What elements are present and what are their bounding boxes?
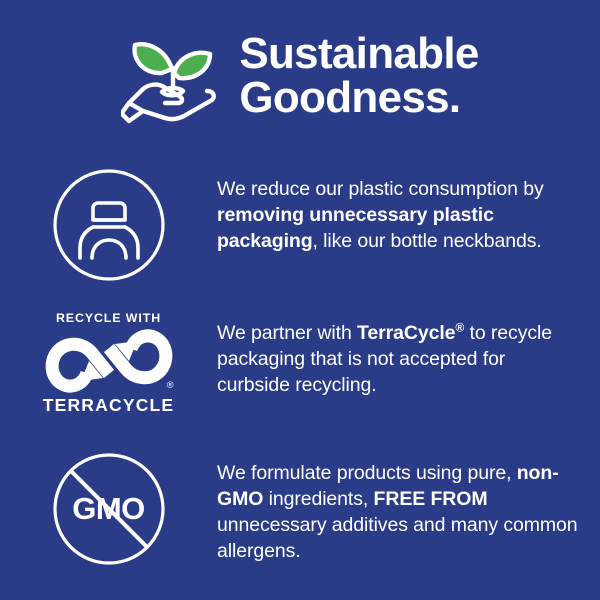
header: Sustainable Goodness. (0, 24, 600, 128)
text-segment: We formulate products using pure, (217, 462, 517, 484)
terracycle-bottom-text: TERRACYCLE (43, 397, 175, 415)
text-segment-brand: TerraCycle (357, 322, 455, 344)
benefit-row-gmo-icon-cell: GMO (0, 446, 217, 566)
benefit-row-plastic-text: We reduce our plastic consumption by rem… (217, 176, 582, 254)
terracycle-logo: RECYCLE WITH (41, 312, 177, 415)
registered-mark: ® (455, 321, 464, 335)
benefit-row-terracycle-icon-cell: RECYCLE WITH (0, 306, 217, 415)
text-segment: , like our bottle neckbands. (313, 230, 542, 252)
bottle-neckband-circle-icon (52, 168, 166, 282)
page-title: Sustainable Goodness. (239, 32, 478, 119)
text-segment: We reduce our plastic consumption by (217, 178, 544, 200)
benefit-row-gmo-text: We formulate products using pure, non-GM… (217, 460, 582, 565)
benefit-row-gmo: GMO We formulate products using pure, no… (0, 446, 600, 566)
no-gmo-circle-icon: GMO (52, 452, 166, 566)
benefit-row-terracycle-text: We partner with TerraCycle® to recycle p… (217, 320, 582, 398)
benefit-rows: We reduce our plastic consumption by rem… (0, 162, 600, 566)
benefit-row-gmo-text-cell: We formulate products using pure, non-GM… (217, 446, 600, 565)
terracycle-registered-mark: ® (167, 381, 174, 390)
benefit-row-terracycle-text-cell: We partner with TerraCycle® to recycle p… (217, 306, 600, 398)
sustainable-goodness-infographic: Sustainable Goodness. (0, 0, 600, 600)
gmo-label: GMO (52, 452, 166, 566)
benefit-row-plastic: We reduce our plastic consumption by rem… (0, 162, 600, 282)
benefit-row-plastic-icon-cell (0, 162, 217, 282)
text-segment-bold: TerraCycle® (357, 322, 464, 344)
benefit-row-plastic-text-cell: We reduce our plastic consumption by rem… (217, 162, 600, 254)
text-segment: unnecessary additives and many common al… (217, 514, 578, 562)
terracycle-top-text: RECYCLE WITH (56, 312, 161, 324)
text-segment: We partner with (217, 322, 357, 344)
benefit-row-terracycle: RECYCLE WITH (0, 306, 600, 424)
text-segment: ingredients, (263, 488, 373, 510)
text-segment-bold: FREE FROM (374, 488, 488, 510)
terracycle-infinity-icon: ® (43, 329, 175, 393)
hand-holding-sprout-icon (121, 28, 225, 128)
